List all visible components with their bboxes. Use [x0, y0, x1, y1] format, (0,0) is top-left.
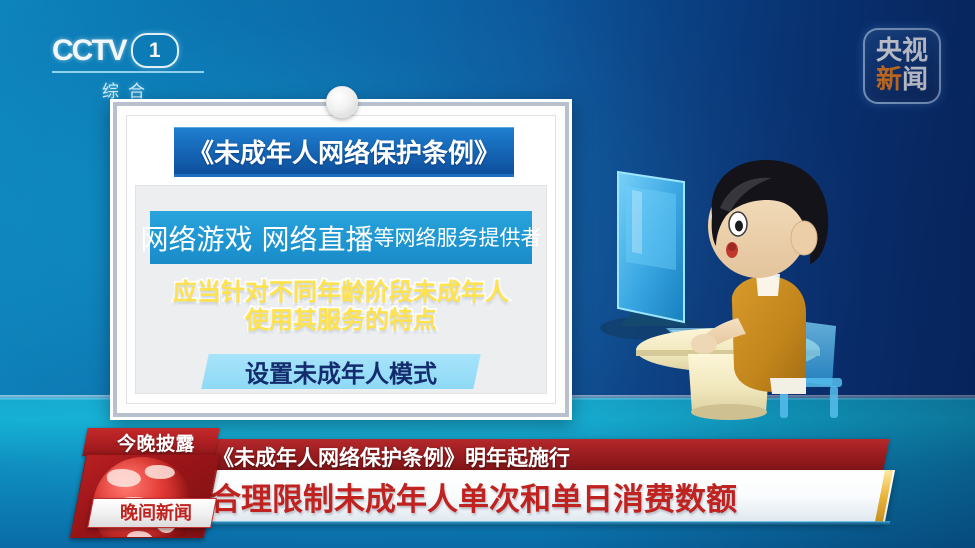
minor-mode-label: 设置未成年人模式	[245, 354, 437, 389]
globe-continent-5	[127, 531, 153, 538]
panel-title: 《未成年人网络保护条例》	[188, 133, 500, 170]
lower-third-ticker: 《未成年人网络保护条例》明年起施行 合理限制未成年人单次和单日消费数额 今晚披露…	[0, 428, 975, 543]
news-badge-line-1: 央视	[876, 38, 928, 65]
panel-body: 网络游戏 网络直播 等网络服务提供者 应当针对不同年龄阶段未成年人 使用其服务的…	[135, 185, 547, 394]
panel-title-banner: 《未成年人网络保护条例》	[174, 127, 514, 175]
globe-continent-2	[145, 465, 175, 479]
illustration-svg	[580, 150, 910, 420]
panel-pin-icon	[326, 86, 358, 118]
info-panel-frame: 《未成年人网络保护条例》 网络游戏 网络直播 等网络服务提供者 应当针对不同年龄…	[113, 102, 569, 417]
news-badge-char-wen: 闻	[902, 67, 928, 94]
ticker-bottom-edge	[190, 521, 891, 525]
headline-text: 合理限制未成年人单次和单日消费数额	[210, 472, 737, 520]
strip-primary-text: 网络游戏 网络直播	[141, 218, 374, 258]
strip-secondary-text: 等网络服务提供者	[373, 222, 541, 253]
globe-continent-1	[107, 469, 141, 487]
news-badge-char-xin: 新	[876, 67, 902, 94]
channel-logo-underline	[52, 71, 204, 73]
channel-logo-text: CCTV	[52, 34, 126, 68]
requirement-line-1: 应当针对不同年龄阶段未成年人	[136, 278, 546, 306]
panel-title-underline	[174, 174, 514, 177]
channel-logo: CCTV 1 综合	[52, 33, 222, 95]
news-badge-line-2: 新 闻	[876, 67, 928, 94]
info-panel: 《未成年人网络保护条例》 网络游戏 网络直播 等网络服务提供者 应当针对不同年龄…	[110, 99, 572, 420]
tonight-tab-label: 今晚披露	[90, 429, 222, 455]
program-name-label: 晚间新闻	[95, 499, 217, 525]
news-badge-char-yang: 央视	[876, 38, 928, 65]
cctv-news-badge: 央视 新 闻	[863, 28, 941, 104]
minor-mode-highlight: 设置未成年人模式	[201, 354, 480, 389]
highlight-row: 设置未成年人模式	[136, 354, 546, 389]
channel-number: 1	[131, 33, 179, 68]
broadcast-screen: CCTV 1 综合 央视 新 闻 《未成年人网络保护条例》 网络游戏	[0, 0, 975, 548]
info-panel-inner: 《未成年人网络保护条例》 网络游戏 网络直播 等网络服务提供者 应当针对不同年龄…	[126, 115, 556, 404]
requirement-line-2: 使用其服务的特点	[136, 306, 546, 334]
cartoon-boy-at-computer-illustration	[580, 150, 910, 420]
subheadline-text: 《未成年人网络保护条例》明年起施行	[213, 441, 570, 473]
service-providers-strip: 网络游戏 网络直播 等网络服务提供者	[150, 211, 532, 264]
channel-logo-row: CCTV 1	[52, 33, 222, 68]
requirement-text-block: 应当针对不同年龄阶段未成年人 使用其服务的特点	[136, 278, 546, 335]
